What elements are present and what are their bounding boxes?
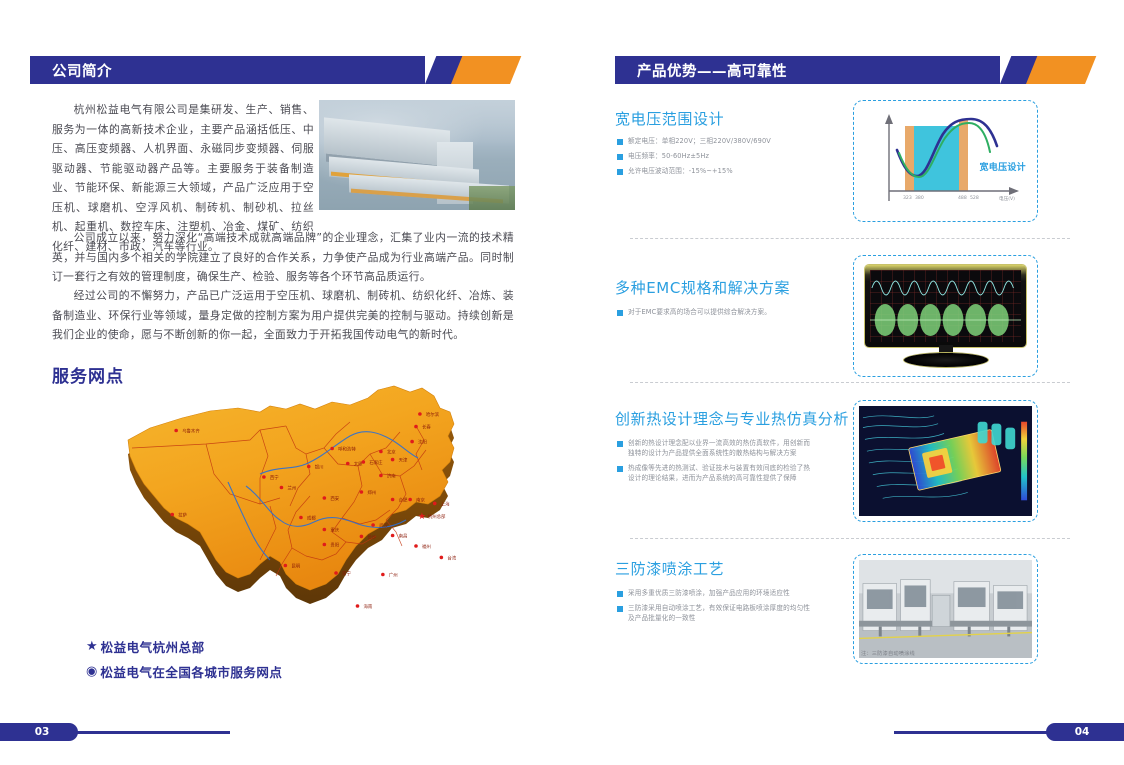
page-number-left: 03	[0, 723, 78, 741]
feature-4-bullets: 采用多重优质三防漆喷涂，加强产品应用的环境适应性 三防漆采用自动喷涂工艺，有效保…	[617, 588, 813, 628]
map-city-label: 上海	[441, 500, 450, 507]
bullet-text: 允许电压波动范围：-15%~+15%	[628, 166, 733, 176]
company-intro-paragraph-2: 公司成立以来，努力深化“高端技术成就高端品牌”的企业理念，汇集了业内一流的技术精…	[52, 228, 514, 287]
bullet-square-icon	[617, 169, 623, 175]
map-marker-city	[433, 502, 437, 506]
bullet-item: 创新的热设计理念配以业界一流高效的热仿真软件，用创新而独特的设计为产品提供全面系…	[617, 438, 813, 458]
bullet-item: 对于EMC要求高的场合可以提供综合解决方案。	[617, 307, 813, 317]
page-number-right: 04	[1046, 723, 1124, 741]
map-city-label: 北京	[387, 449, 396, 456]
map-marker-city	[174, 429, 178, 433]
map-marker-city	[299, 516, 303, 520]
bullet-square-icon	[617, 310, 623, 316]
map-marker-city	[391, 534, 395, 538]
bullet-square-icon	[617, 466, 623, 472]
map-city-label: 贵阳	[330, 542, 339, 549]
feature-1-bullets: 额定电压：单相220V；三相220V/380V/690V 电压频率：50-60H…	[617, 136, 813, 181]
map-city-label: 福州	[422, 543, 431, 550]
legend-label-service-points: 松益电气在全国各城市服务网点	[100, 662, 282, 681]
map-city-label: 长沙	[367, 533, 376, 540]
map-marker-city	[418, 412, 422, 416]
chart-band-low	[905, 126, 914, 191]
emc-waveform-monitor	[859, 261, 1032, 371]
feature-divider-1	[630, 238, 1070, 239]
map-city-label: 南京	[416, 497, 425, 504]
map-marker-city	[379, 450, 383, 454]
left-header-bar: 公司简介	[30, 56, 425, 84]
bullet-text: 额定电压：单相220V；三相220V/380V/690V	[628, 136, 771, 146]
monitor-bezel	[865, 265, 1026, 347]
map-city-label: 南宁	[342, 570, 351, 577]
map-marker-city	[381, 573, 385, 577]
conformal-coating-line-photo: 注：三防漆自动喷涂线	[859, 560, 1032, 658]
voltage-range-chart-frame: 宽电压设计 323 380 488 528 电压(V)	[853, 100, 1038, 222]
map-city-label: 郑州	[367, 489, 376, 496]
coating-line-frame: 注：三防漆自动喷涂线	[853, 554, 1038, 664]
chart-xtick-380: 380	[915, 196, 924, 201]
footer-rule-left	[77, 731, 230, 734]
map-city-label: 石家庄	[369, 459, 383, 466]
voltage-range-chart: 宽电压设计 323 380 488 528 电压(V)	[859, 106, 1032, 216]
map-city-label: 杭州总部	[428, 513, 446, 520]
map-marker-city	[330, 447, 334, 451]
map-marker-city	[440, 556, 444, 560]
map-city-label: 拉萨	[178, 512, 187, 519]
legend-item-headquarters: ★ 松益电气杭州总部	[86, 637, 282, 656]
star-icon: ★	[86, 640, 98, 653]
map-city-label: 武汉	[379, 522, 388, 529]
map-city-label: 沈阳	[418, 439, 427, 446]
chart-xlabel: 电压(V)	[999, 196, 1015, 202]
left-section-header: 公司简介	[30, 56, 510, 84]
chart-x-arrow	[1009, 187, 1019, 195]
left-header-title: 公司简介	[52, 60, 112, 81]
map-marker-city	[391, 498, 395, 502]
right-header-accent	[1000, 56, 1085, 84]
feature-divider-2	[630, 382, 1070, 383]
map-city-label: 兰州	[287, 485, 296, 492]
left-header-accent	[425, 56, 510, 84]
map-city-label: 济南	[387, 473, 396, 480]
map-city-label: 天津	[399, 457, 408, 464]
footer-rule-right	[894, 731, 1047, 734]
map-marker-city	[170, 513, 174, 517]
china-map-svg: 乌鲁木齐拉萨西宁兰州银川呼和浩特太原石家庄北京天津哈尔滨长春沈阳济南西安郑州合肥…	[110, 378, 500, 678]
bullet-text: 三防漆采用自动喷涂工艺，有效保证电路板喷涂厚度的均匀性及产品批量化的一致性	[628, 603, 813, 623]
company-intro-paragraph-3: 经过公司的不懈努力，产品已广泛运用于空压机、球磨机、制砖机、纺织化纤、冶炼、装备…	[52, 286, 514, 345]
right-header-title: 产品优势——高可靠性	[637, 60, 787, 81]
chart-xtick-323: 323	[903, 196, 912, 201]
map-marker-city	[284, 564, 288, 568]
emc-monitor-frame	[853, 255, 1038, 377]
left-page: 公司简介 杭州松益电气有限公司是集研发、生产、销售、服务为一体的高新技术企业，主…	[0, 0, 562, 765]
map-city-label: 长春	[422, 424, 431, 431]
china-service-map: 乌鲁木齐拉萨西宁兰州银川呼和浩特太原石家庄北京天津哈尔滨长春沈阳济南西安郑州合肥…	[110, 378, 500, 678]
map-city-label: 海南	[364, 603, 373, 610]
map-marker-city	[379, 474, 383, 478]
bullet-text: 创新的热设计理念配以业界一流高效的热仿真软件，用创新而独特的设计为产品提供全面系…	[628, 438, 813, 458]
right-page-footer: 04	[894, 723, 1124, 741]
bullet-square-icon	[617, 606, 623, 612]
map-marker-city	[262, 475, 266, 479]
map-marker-city	[371, 523, 375, 527]
monitor-screen	[870, 270, 1021, 342]
map-city-label: 广州	[389, 572, 398, 579]
map-city-label: 重庆	[330, 527, 339, 534]
feature-3-bullets: 创新的热设计理念配以业界一流高效的热仿真软件，用创新而独特的设计为产品提供全面系…	[617, 438, 813, 488]
bullet-item: 电压频率：50-60Hz±5Hz	[617, 151, 813, 161]
chart-y-arrow	[885, 114, 893, 124]
chart-band-high	[959, 120, 968, 191]
map-marker-city	[408, 498, 412, 502]
map-marker-city	[323, 543, 327, 547]
center-column	[932, 595, 950, 626]
map-marker-city	[362, 460, 366, 464]
map-city-label: 呼和浩特	[338, 446, 356, 453]
factory-photo	[319, 100, 515, 210]
chart-band-wide	[914, 126, 959, 191]
map-city-label: 合肥	[399, 497, 408, 504]
map-city-label: 台湾	[447, 554, 456, 561]
bullet-item: 允许电压波动范围：-15%~+15%	[617, 166, 813, 176]
bullet-item: 热成像等先进的热测试、验证技术与装置有效间底的检验了热设计的理论结果，进而为产品…	[617, 463, 813, 483]
bullet-text: 采用多重优质三防漆喷涂，加强产品应用的环境适应性	[628, 588, 790, 598]
bullet-square-icon	[617, 154, 623, 160]
chart-xtick-488: 488	[958, 196, 967, 201]
map-marker-city	[323, 496, 327, 500]
bullet-square-icon	[617, 591, 623, 597]
feature-2-bullets: 对于EMC要求高的场合可以提供综合解决方案。	[617, 307, 813, 322]
map-marker-city	[410, 440, 414, 444]
map-marker-city	[360, 535, 364, 539]
map-city-label: 成都	[307, 515, 316, 522]
map-legend: ★ 松益电气杭州总部 ◉ 松益电气在全国各城市服务网点	[86, 637, 282, 687]
map-marker-city	[391, 458, 395, 462]
map-city-label: 南昌	[399, 533, 408, 540]
coating-line-svg	[859, 560, 1032, 658]
bullet-text: 热成像等先进的热测试、验证技术与装置有效间底的检验了热设计的理论结果，进而为产品…	[628, 463, 813, 483]
waveform-svg	[870, 270, 1021, 342]
left-page-footer: 03	[0, 723, 230, 741]
map-marker-city	[323, 528, 327, 532]
thermal-simulation-frame	[853, 400, 1038, 522]
feature-2-title: 多种EMC规格和解决方案	[615, 277, 790, 298]
feature-divider-3	[630, 538, 1070, 539]
photo-greenery	[469, 186, 515, 210]
map-marker-city	[280, 486, 284, 490]
chart-annotation: 宽电压设计	[979, 160, 1026, 173]
chart-xtick-528: 528	[970, 196, 979, 201]
map-city-label: 乌鲁木齐	[182, 428, 200, 435]
map-city-label: 银川	[315, 464, 324, 471]
bullet-text: 电压频率：50-60Hz±5Hz	[628, 151, 709, 161]
paragraph-3-text: 经过公司的不懈努力，产品已广泛运用于空压机、球磨机、制砖机、纺织化纤、冶炼、装备…	[52, 286, 514, 345]
bullet-square-icon	[617, 441, 623, 447]
dot-icon: ◉	[86, 665, 97, 678]
map-marker-city	[414, 425, 418, 429]
map-marker-city	[360, 490, 364, 494]
map-marker-city	[307, 465, 311, 469]
bullet-item: 三防漆采用自动喷涂工艺，有效保证电路板喷涂厚度的均匀性及产品批量化的一致性	[617, 603, 813, 623]
map-city-label: 哈尔滨	[426, 411, 440, 418]
paragraph-2-text: 公司成立以来，努力深化“高端技术成就高端品牌”的企业理念，汇集了业内一流的技术精…	[52, 228, 514, 287]
map-city-label: 昆明	[291, 564, 300, 570]
map-city-label: 西宁	[270, 474, 279, 481]
map-marker-city	[334, 571, 338, 575]
right-header-bar: 产品优势——高可靠性	[615, 56, 1000, 84]
map-marker-headquarters: ★	[418, 512, 426, 522]
thermal-colorbar	[1021, 422, 1027, 501]
legend-label-headquarters: 松益电气杭州总部	[101, 637, 205, 656]
map-marker-city	[414, 544, 418, 548]
feature-4-title: 三防漆喷涂工艺	[615, 558, 724, 579]
right-section-header: 产品优势——高可靠性	[615, 56, 1085, 84]
waveform-top	[872, 281, 1014, 295]
coating-line-caption: 注：三防漆自动喷涂线	[861, 650, 915, 657]
bullet-item: 额定电压：单相220V；三相220V/380V/690V	[617, 136, 813, 146]
legend-item-service-points: ◉ 松益电气在全国各城市服务网点	[86, 662, 282, 681]
map-marker-city	[346, 462, 350, 466]
bullet-item: 采用多重优质三防漆喷涂，加强产品应用的环境适应性	[617, 588, 813, 598]
thermal-svg	[859, 406, 1032, 516]
thermal-simulation-image	[859, 406, 1032, 516]
map-marker-city	[356, 604, 360, 608]
feature-1-title: 宽电压范围设计	[615, 108, 724, 129]
map-city-label: 西安	[330, 495, 339, 502]
bullet-text: 对于EMC要求高的场合可以提供综合解决方案。	[628, 307, 771, 317]
monitor-stand	[904, 353, 988, 367]
bullet-square-icon	[617, 139, 623, 145]
feature-3-title: 创新热设计理念与专业热仿真分析	[615, 408, 849, 429]
